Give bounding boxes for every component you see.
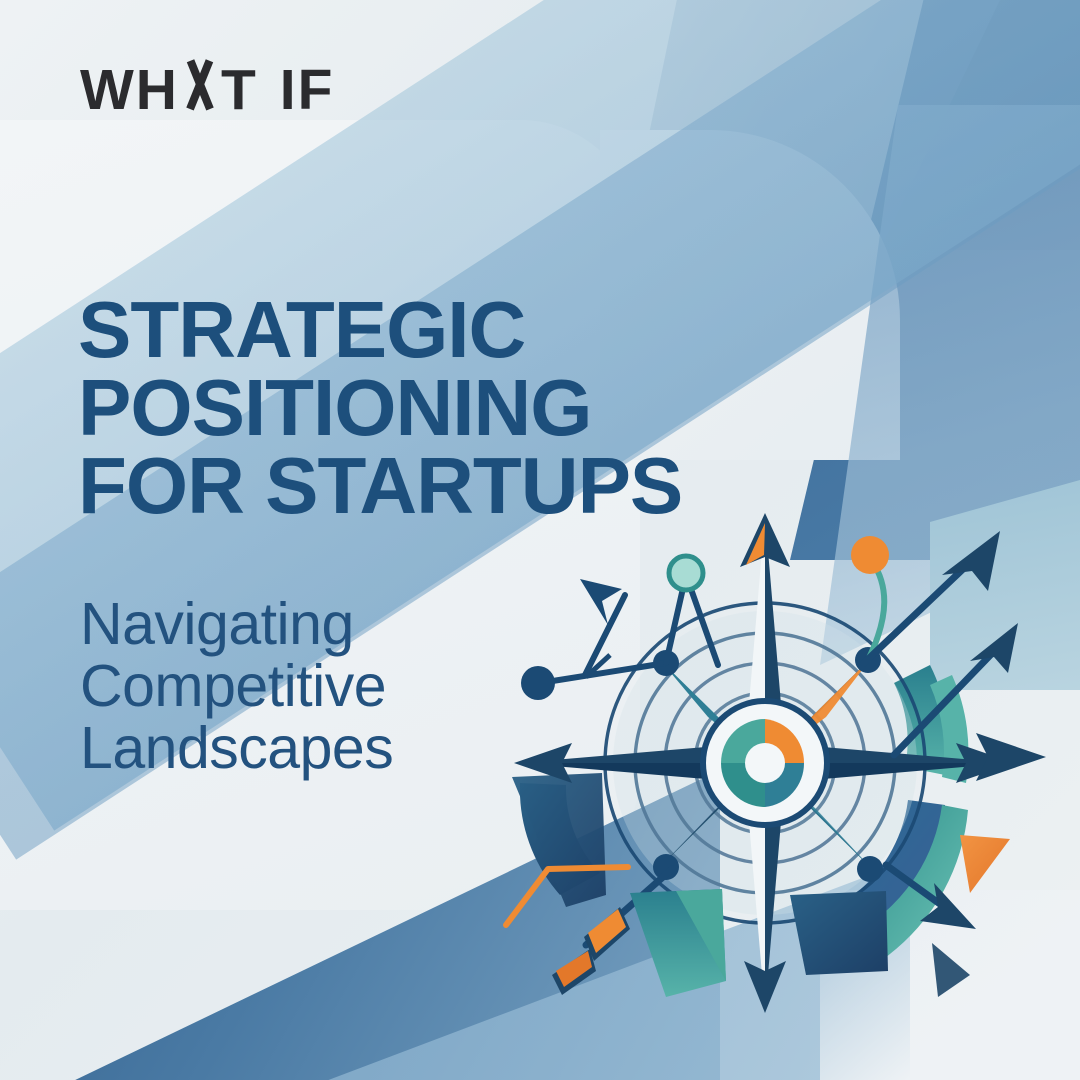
orange-triangle-accent — [960, 835, 1010, 893]
navy-polygon-bottom — [790, 891, 888, 975]
brand-logo: WH T IF — [80, 62, 334, 119]
compass-illustration-svg — [490, 505, 1070, 1080]
logo-word-what: WH T — [80, 62, 258, 119]
network-node-left — [521, 666, 555, 700]
arc-segments-left — [512, 773, 606, 907]
teal-polygon-bottom — [630, 889, 726, 997]
center-donut-hub — [703, 701, 827, 825]
page-subtitle: Navigating Competitive Landscapes — [80, 594, 550, 780]
logo-text-wh: WH — [80, 62, 179, 119]
logo-lambda-a-icon — [180, 62, 220, 109]
subtitle-line-3: Landscapes — [80, 718, 550, 780]
page-title: STRATEGIC POSITIONING FOR STARTUPS — [78, 291, 778, 526]
subtitle-line-1: Navigating — [80, 594, 550, 656]
network-node-mint — [669, 556, 703, 590]
logo-text-t: T — [221, 62, 258, 119]
subtitle-line-2: Competitive — [80, 656, 550, 718]
title-line-1: STRATEGIC — [78, 291, 778, 369]
logo-word-if: IF — [280, 62, 335, 119]
compass-rose-illustration — [490, 505, 1070, 1080]
poster-canvas: WH T IF STRATEGIC POSITIONING FOR STARTU… — [0, 0, 1080, 1080]
navy-triangle-accent — [932, 943, 970, 997]
title-line-2: POSITIONING — [78, 369, 778, 447]
